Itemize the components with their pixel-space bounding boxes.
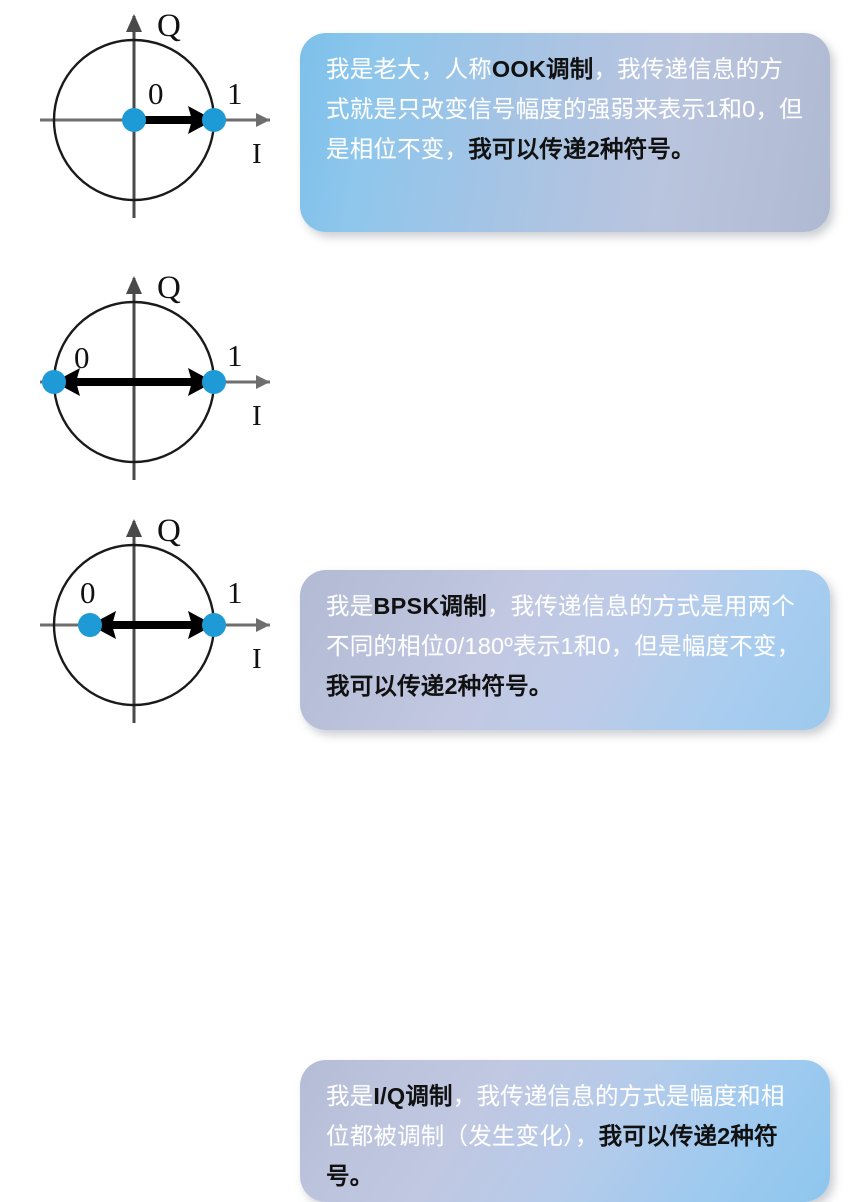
i-axis-label: I <box>252 138 262 170</box>
bpsk-constellation: 0 1 Q I <box>22 262 292 502</box>
iq-description-bubble: 我是I/Q调制，我传递信息的方式是幅度和相位都被调制（发生变化），我可以传递2种… <box>300 1060 830 1202</box>
point-label-0: 0 <box>74 340 90 375</box>
constellation-point-1 <box>202 613 226 637</box>
q-axis-arrowhead <box>126 276 142 294</box>
point-label-1: 1 <box>227 575 243 610</box>
iq-constellation-svg: 0 1 Q I <box>22 505 292 745</box>
constellation-point-1 <box>202 370 226 394</box>
constellation-point-0 <box>42 370 66 394</box>
q-axis-label: Q <box>157 8 181 44</box>
ook-text-seg-3: 我可以传递2种符号。 <box>468 136 695 162</box>
q-axis-label: Q <box>157 270 181 306</box>
ook-constellation: 0 1 Q I <box>22 0 292 240</box>
ook-description-text: 我是老大，人称OOK调制，我传递信息的方式就是只改变信号幅度的强弱来表示1和0，… <box>326 49 804 169</box>
q-axis-arrowhead <box>126 519 142 537</box>
i-axis-label: I <box>252 643 262 675</box>
modulation-row-bpsk: 0 1 Q I 我是BPSK调制，我传递信息的方式是用两个不同的相位0/180º… <box>0 262 851 502</box>
point-label-0: 0 <box>148 76 164 111</box>
q-axis-arrowhead <box>126 14 142 32</box>
iq-text-seg-0: 我是 <box>326 1083 373 1109</box>
q-axis-label: Q <box>157 513 181 549</box>
constellation-point-0 <box>122 108 146 132</box>
iq-description-text: 我是I/Q调制，我传递信息的方式是幅度和相位都被调制（发生变化），我可以传递2种… <box>326 1076 804 1196</box>
constellation-point-0 <box>78 613 102 637</box>
i-axis-arrowhead <box>256 375 270 389</box>
point-label-0: 0 <box>80 575 96 610</box>
modulation-comparison-page: 0 1 Q I 我是老大，人称OOK调制，我传递信息的方式就是只改变信号幅度的强… <box>0 0 851 745</box>
ook-text-seg-1: OOK调制 <box>492 56 594 82</box>
i-axis-arrowhead <box>256 113 270 127</box>
ook-constellation-svg: 0 1 Q I <box>22 0 292 240</box>
constellation-point-1 <box>202 108 226 132</box>
point-label-1: 1 <box>227 76 243 111</box>
i-axis-label: I <box>252 400 262 432</box>
iq-text-seg-1: I/Q调制 <box>373 1083 452 1109</box>
ook-description-bubble: 我是老大，人称OOK调制，我传递信息的方式就是只改变信号幅度的强弱来表示1和0，… <box>300 33 830 232</box>
i-axis-arrowhead <box>256 618 270 632</box>
modulation-row-ook: 0 1 Q I 我是老大，人称OOK调制，我传递信息的方式就是只改变信号幅度的强… <box>0 0 851 250</box>
bpsk-constellation-svg: 0 1 Q I <box>22 262 292 502</box>
iq-constellation: 0 1 Q I <box>22 505 292 745</box>
ook-text-seg-0: 我是老大，人称 <box>326 56 492 82</box>
modulation-row-iq: 0 1 Q I 我是I/Q调制，我传递信息的方式是幅度和相位都被调制（发生变化）… <box>0 505 851 745</box>
point-label-1: 1 <box>227 338 243 373</box>
